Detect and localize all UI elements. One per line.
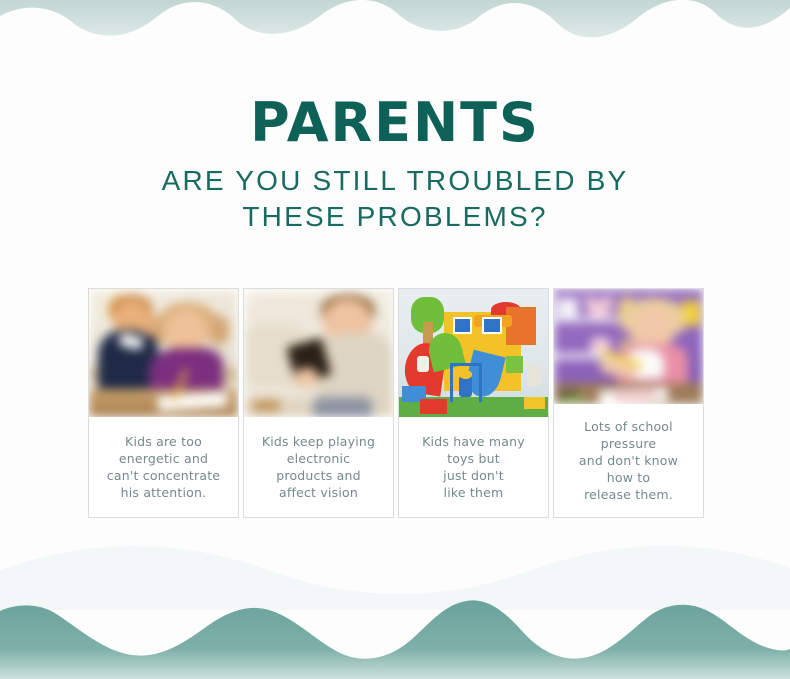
caption-line: pressure — [579, 435, 678, 452]
caption-line: Kids have many — [422, 433, 525, 450]
caption-line: just don't — [422, 467, 525, 484]
wave-top-decoration — [0, 0, 790, 60]
card-photo-toddler-phone — [244, 289, 393, 417]
caption-line: Kids are too — [107, 433, 220, 450]
caption-line: can't concentrate — [107, 467, 220, 484]
caption-line: toys but — [422, 450, 525, 467]
problem-card[interactable]: Kids have many toys but just don't like … — [398, 288, 549, 518]
page-title: PARENTS — [0, 95, 790, 151]
caption-line: how to — [579, 469, 678, 486]
page-subtitle: ARE YOU STILL TROUBLED BY THESE PROBLEMS… — [0, 163, 790, 235]
headline-block: PARENTS ARE YOU STILL TROUBLED BY THESE … — [0, 95, 790, 235]
caption-line: products and — [262, 467, 375, 484]
card-photo-classroom — [89, 289, 238, 417]
subtitle-line-1: ARE YOU STILL TROUBLED BY — [162, 165, 629, 196]
caption-line: affect vision — [262, 484, 375, 501]
caption-line: Kids keep playing — [262, 433, 375, 450]
problem-card[interactable]: Kids are too energetic and can't concent… — [88, 288, 239, 518]
caption-line: his attention. — [107, 484, 220, 501]
caption-line: like them — [422, 484, 525, 501]
subtitle-line-2: THESE PROBLEMS? — [0, 199, 790, 235]
caption-line: Lots of school — [579, 418, 678, 435]
caption-line: and don't know — [579, 452, 678, 469]
caption-line: release them. — [579, 486, 678, 503]
card-photo-building-blocks — [399, 289, 548, 417]
card-caption: Kids have many toys but just don't like … — [399, 417, 548, 517]
card-photo-girl-writing — [554, 289, 703, 404]
card-caption: Kids keep playing electronic products an… — [244, 417, 393, 517]
wave-bottom-decoration — [0, 569, 790, 679]
caption-line: energetic and — [107, 450, 220, 467]
caption-line: electronic — [262, 450, 375, 467]
promo-banner: PARENTS ARE YOU STILL TROUBLED BY THESE … — [0, 0, 790, 679]
problem-card[interactable]: Lots of school pressure and don't know h… — [553, 288, 704, 518]
problem-card[interactable]: Kids keep playing electronic products an… — [243, 288, 394, 518]
problem-card-list: Kids are too energetic and can't concent… — [88, 288, 708, 518]
card-caption: Kids are too energetic and can't concent… — [89, 417, 238, 517]
card-caption: Lots of school pressure and don't know h… — [554, 404, 703, 517]
